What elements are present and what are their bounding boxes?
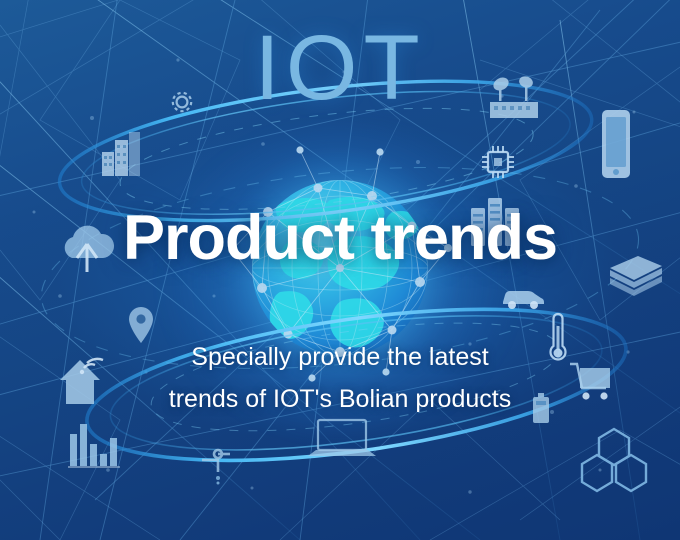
subtitle-line-2: trends of IOT's Bolian products — [0, 378, 680, 420]
banner-text-stack: IOT Product trends Specially provide the… — [0, 0, 680, 540]
iot-product-trends-banner: IOT Product trends Specially provide the… — [0, 0, 680, 540]
page-title: Product trends — [0, 207, 680, 270]
subtitle-line-1: Specially provide the latest — [0, 336, 680, 378]
banner-subtitle: Specially provide the latest trends of I… — [0, 336, 680, 420]
brand-word-iot: IOT — [0, 22, 680, 114]
